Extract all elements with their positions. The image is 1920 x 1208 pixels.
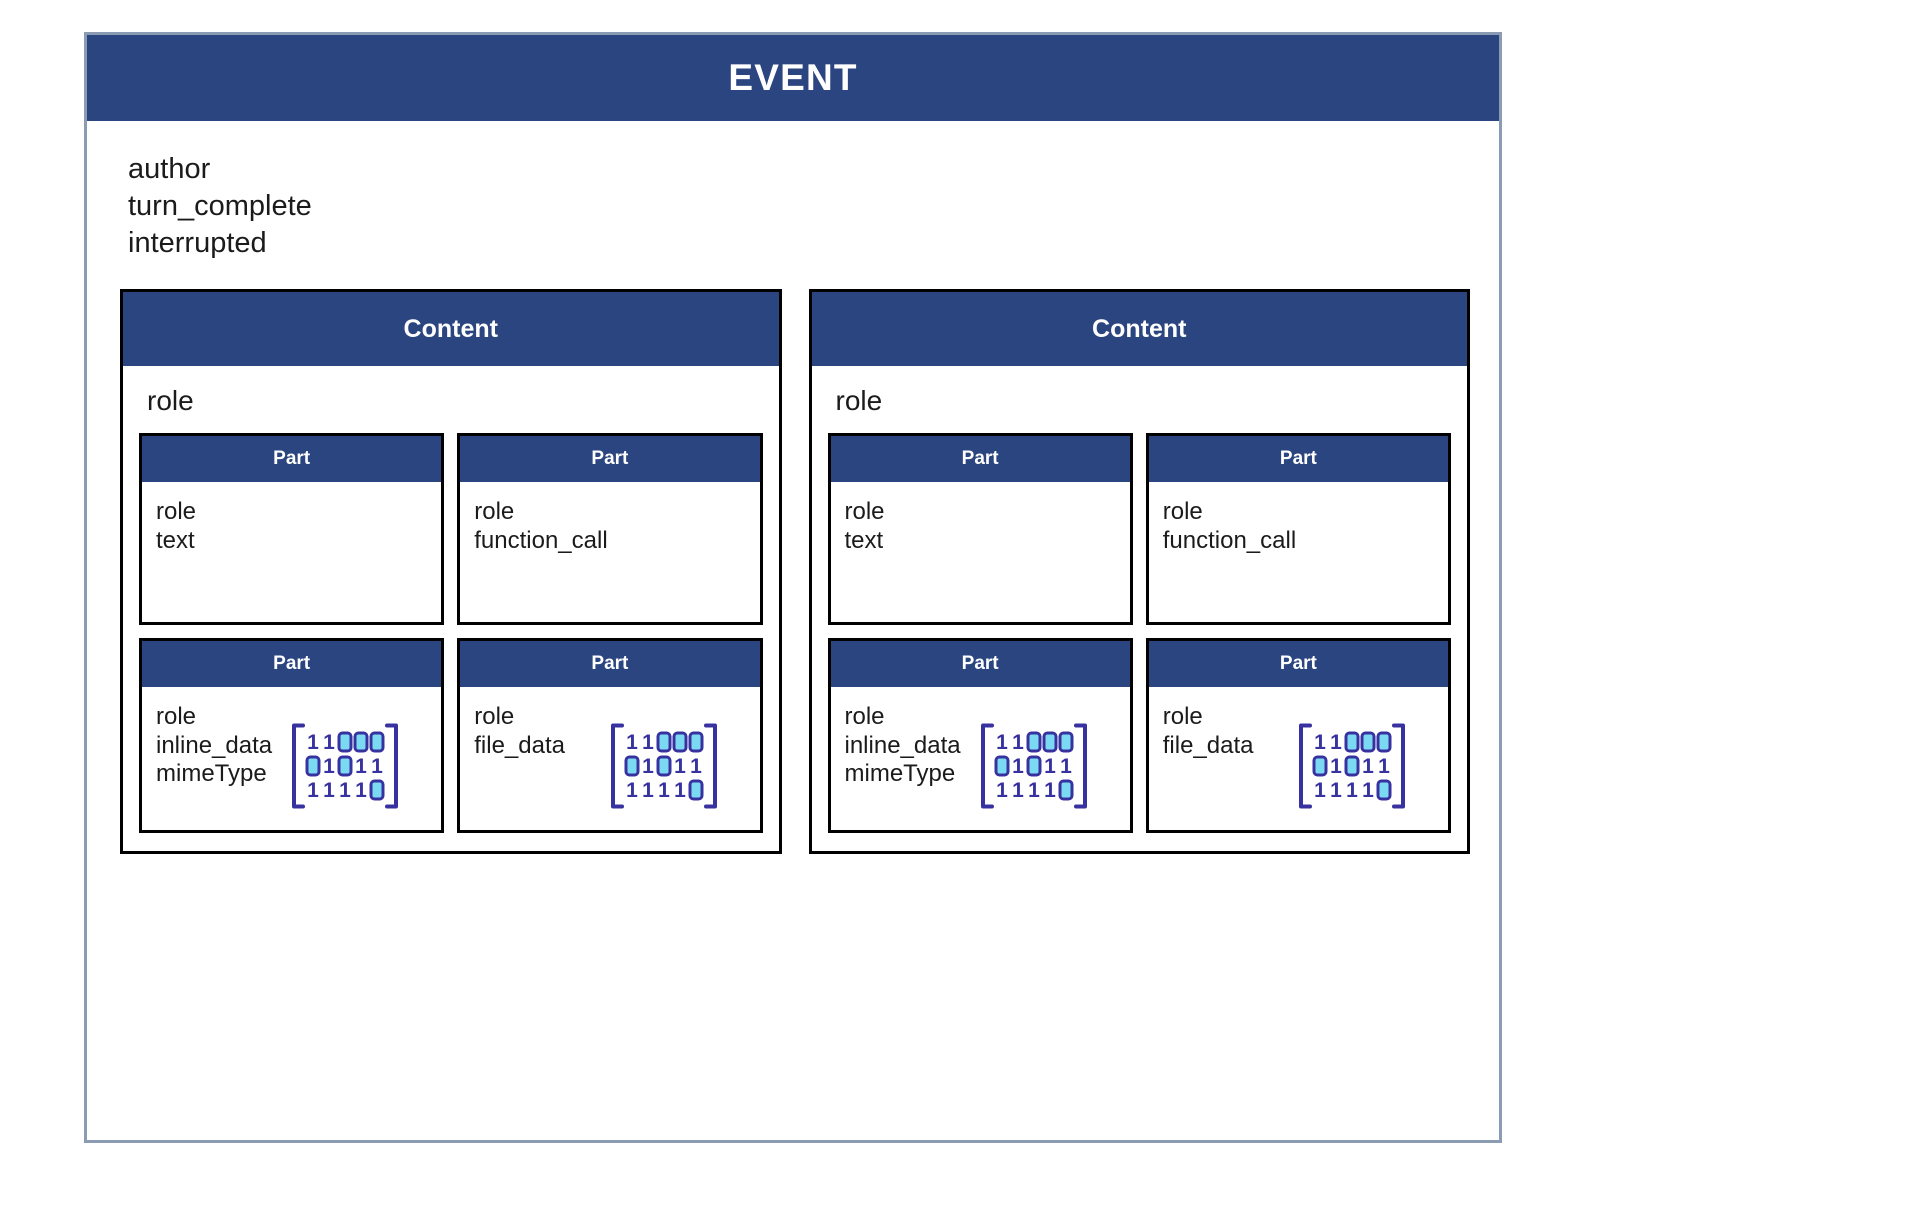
event-attribute-interrupted: interrupted — [128, 225, 1499, 262]
svg-text:1: 1 — [339, 779, 351, 802]
part-field-file-data: file_data — [474, 732, 565, 760]
part-header-1-file-data: Part — [460, 641, 759, 687]
svg-text:1: 1 — [642, 755, 654, 778]
svg-text:1: 1 — [674, 755, 686, 778]
part-fields-2-file-data: role file_data — [1163, 703, 1254, 760]
part-fields-1-text: role text — [156, 498, 196, 555]
part-fields-2-function-call: role function_call — [1163, 498, 1296, 555]
part-field-inline-data: inline_data — [845, 732, 961, 760]
content-panels-row: Content role Part role text — [87, 261, 1499, 854]
part-body-1-inline-data: role inline_data mimeType 111111111 — [142, 687, 441, 830]
part-field-function-call: function_call — [474, 527, 607, 555]
binary-data-icon: 111111111 — [978, 721, 1090, 816]
part-header-2-file-data: Part — [1149, 641, 1448, 687]
content-role-label-2: role — [828, 382, 1452, 433]
event-attribute-turn-complete: turn_complete — [128, 188, 1499, 225]
svg-text:1: 1 — [1346, 779, 1358, 802]
binary-data-icon: 111111111 — [608, 721, 720, 816]
part-field-role: role — [474, 703, 565, 731]
svg-text:1: 1 — [1314, 731, 1326, 754]
part-field-role: role — [845, 498, 885, 526]
part-body-2-inline-data: role inline_data mimeType 111111111 — [831, 687, 1130, 830]
svg-text:1: 1 — [996, 779, 1008, 802]
svg-text:1: 1 — [323, 779, 335, 802]
parts-grid-1: Part role text Part — [139, 433, 763, 833]
svg-text:1: 1 — [1330, 731, 1342, 754]
part-header-1-inline-data: Part — [142, 641, 441, 687]
part-field-role: role — [156, 498, 196, 526]
content-title-1: Content — [404, 315, 498, 344]
part-field-role: role — [1163, 498, 1296, 526]
content-header-2: Content — [812, 292, 1468, 366]
part-title-2-text: Part — [962, 448, 999, 470]
part-field-function-call: function_call — [1163, 527, 1296, 555]
event-title: EVENT — [728, 57, 857, 99]
part-header-2-inline-data: Part — [831, 641, 1130, 687]
part-body-1-file-data: role file_data 111111111 — [460, 687, 759, 830]
svg-text:1: 1 — [642, 779, 654, 802]
part-box-2-inline-data: Part role inline_data mimeType 111111111 — [828, 638, 1133, 833]
svg-text:1: 1 — [323, 755, 335, 778]
part-header-2-text: Part — [831, 436, 1130, 482]
svg-text:1: 1 — [674, 779, 686, 802]
svg-text:1: 1 — [371, 755, 383, 778]
event-attribute-list: author turn_complete interrupted — [87, 121, 1499, 261]
svg-text:1: 1 — [996, 731, 1008, 754]
part-field-text: text — [845, 527, 885, 555]
content-body-2: role Part role text — [812, 366, 1468, 851]
part-box-2-text: Part role text — [828, 433, 1133, 625]
part-title-2-function-call: Part — [1280, 448, 1317, 470]
event-frame: EVENT author turn_complete interrupted C… — [84, 32, 1502, 1143]
binary-data-icon: 111111111 — [1296, 721, 1408, 816]
part-title-1-function-call: Part — [591, 448, 628, 470]
part-fields-1-file-data: role file_data — [474, 703, 565, 760]
content-header-1: Content — [123, 292, 779, 366]
svg-text:1: 1 — [1060, 755, 1072, 778]
part-body-1-text: role text — [142, 482, 441, 622]
svg-text:1: 1 — [1378, 755, 1390, 778]
svg-text:1: 1 — [1362, 779, 1374, 802]
part-field-mimetype: mimeType — [845, 760, 961, 788]
part-title-2-file-data: Part — [1280, 653, 1317, 675]
svg-text:1: 1 — [1044, 779, 1056, 802]
event-header-bar: EVENT — [87, 35, 1499, 121]
part-header-2-function-call: Part — [1149, 436, 1448, 482]
svg-text:1: 1 — [690, 755, 702, 778]
svg-text:1: 1 — [642, 731, 654, 754]
content-panel-2: Content role Part role text — [809, 289, 1471, 854]
content-panel-1: Content role Part role text — [120, 289, 782, 854]
part-header-1-text: Part — [142, 436, 441, 482]
svg-text:1: 1 — [1012, 755, 1024, 778]
svg-text:1: 1 — [307, 731, 319, 754]
part-field-role: role — [845, 703, 961, 731]
svg-text:1: 1 — [355, 779, 367, 802]
part-fields-1-function-call: role function_call — [474, 498, 607, 555]
part-field-file-data: file_data — [1163, 732, 1254, 760]
part-field-text: text — [156, 527, 196, 555]
part-title-1-text: Part — [273, 448, 310, 470]
part-title-1-inline-data: Part — [273, 653, 310, 675]
content-role-label-1: role — [139, 382, 763, 433]
part-box-1-file-data: Part role file_data 111111111 — [457, 638, 762, 833]
part-box-1-function-call: Part role function_call — [457, 433, 762, 625]
svg-text:1: 1 — [626, 779, 638, 802]
svg-text:1: 1 — [1362, 755, 1374, 778]
svg-text:1: 1 — [1330, 755, 1342, 778]
svg-text:1: 1 — [1330, 779, 1342, 802]
part-title-1-file-data: Part — [591, 653, 628, 675]
content-title-2: Content — [1092, 315, 1186, 344]
content-body-1: role Part role text — [123, 366, 779, 851]
part-fields-2-inline-data: role inline_data mimeType — [845, 703, 961, 788]
part-field-role: role — [474, 498, 607, 526]
svg-text:1: 1 — [355, 755, 367, 778]
svg-text:1: 1 — [307, 779, 319, 802]
part-field-role: role — [1163, 703, 1254, 731]
part-field-role: role — [156, 703, 272, 731]
part-body-2-text: role text — [831, 482, 1130, 622]
svg-text:1: 1 — [1044, 755, 1056, 778]
svg-text:1: 1 — [1028, 779, 1040, 802]
part-body-2-file-data: role file_data 111111111 — [1149, 687, 1448, 830]
part-box-2-file-data: Part role file_data 111111111 — [1146, 638, 1451, 833]
parts-grid-2: Part role text Part — [828, 433, 1452, 833]
part-field-mimetype: mimeType — [156, 760, 272, 788]
svg-text:1: 1 — [658, 779, 670, 802]
part-title-2-inline-data: Part — [962, 653, 999, 675]
binary-data-icon: 111111111 — [289, 721, 401, 816]
svg-text:1: 1 — [1314, 779, 1326, 802]
part-body-1-function-call: role function_call — [460, 482, 759, 622]
event-attribute-author: author — [128, 151, 1499, 188]
part-header-1-function-call: Part — [460, 436, 759, 482]
svg-text:1: 1 — [1012, 779, 1024, 802]
svg-text:1: 1 — [626, 731, 638, 754]
part-field-inline-data: inline_data — [156, 732, 272, 760]
part-box-1-inline-data: Part role inline_data mimeType 111111111 — [139, 638, 444, 833]
part-body-2-function-call: role function_call — [1149, 482, 1448, 622]
svg-text:1: 1 — [323, 731, 335, 754]
svg-text:1: 1 — [1012, 731, 1024, 754]
part-box-2-function-call: Part role function_call — [1146, 433, 1451, 625]
part-fields-2-text: role text — [845, 498, 885, 555]
part-box-1-text: Part role text — [139, 433, 444, 625]
part-fields-1-inline-data: role inline_data mimeType — [156, 703, 272, 788]
